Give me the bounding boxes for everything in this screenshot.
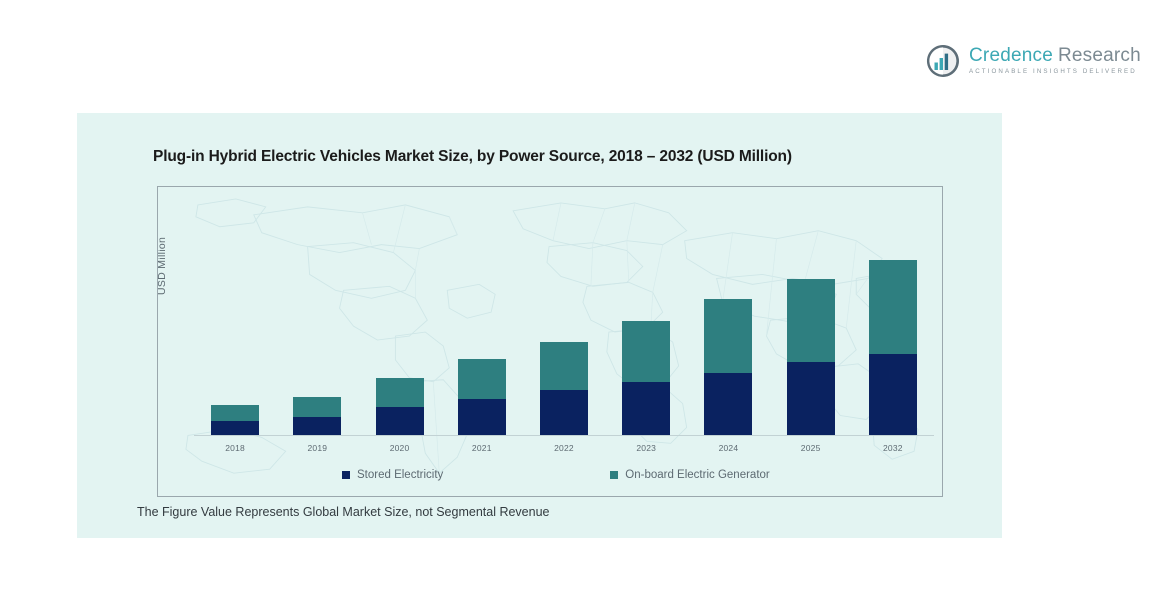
bar-2021[interactable] xyxy=(458,193,506,435)
bar-chart-circle-icon xyxy=(926,44,960,78)
legend-item-on-board-electric-generator[interactable]: On-board Electric Generator xyxy=(610,469,769,481)
chart-title: Plug-in Hybrid Electric Vehicles Market … xyxy=(153,148,792,166)
brand-logo: CredenceResearch Actionable Insights Del… xyxy=(926,44,1141,78)
segment-stored-electricity xyxy=(869,354,917,435)
segment-on-board-electric-generator xyxy=(787,279,835,362)
bar-2023[interactable] xyxy=(622,193,670,435)
page-root: CredenceResearch Actionable Insights Del… xyxy=(0,0,1172,601)
bar-group: 47,390.86 1,10,202.97 xyxy=(194,193,934,435)
legend-swatch-icon xyxy=(342,471,350,479)
segment-on-board-electric-generator xyxy=(458,359,506,399)
y-axis-label: USD Million xyxy=(157,237,168,295)
segment-on-board-electric-generator xyxy=(293,397,341,417)
bar-value-label: 1,10,202.97 xyxy=(862,186,923,187)
segment-on-board-electric-generator xyxy=(540,342,588,390)
segment-stored-electricity xyxy=(293,417,341,435)
segment-stored-electricity xyxy=(458,399,506,435)
chart-legend: Stored Electricity On-board Electric Gen… xyxy=(194,469,934,481)
segment-stored-electricity xyxy=(376,407,424,435)
brand-text: CredenceResearch Actionable Insights Del… xyxy=(969,46,1141,75)
legend-item-stored-electricity[interactable]: Stored Electricity xyxy=(342,469,443,481)
bar-2020[interactable] xyxy=(376,193,424,435)
segment-on-board-electric-generator xyxy=(869,260,917,354)
bar-2024[interactable] xyxy=(704,193,752,435)
legend-label: On-board Electric Generator xyxy=(625,469,769,481)
bar-value-label: 47,390.86 xyxy=(785,186,836,187)
brand-name-secondary: Research xyxy=(1058,45,1141,66)
segment-stored-electricity xyxy=(622,382,670,435)
brand-tagline: Actionable Insights Delivered xyxy=(969,69,1141,75)
x-axis-baseline xyxy=(194,435,934,436)
segment-stored-electricity xyxy=(540,390,588,435)
x-tick-2032: 2032 xyxy=(869,443,917,453)
x-tick-2021: 2021 xyxy=(458,443,506,453)
segment-on-board-electric-generator xyxy=(376,378,424,407)
segment-on-board-electric-generator xyxy=(211,405,259,421)
chart-plot-frame: USD Million xyxy=(157,186,943,497)
x-axis-tick-labels: 2018 2019 2020 2021 2022 2023 2024 2025 … xyxy=(194,443,934,453)
x-tick-2024: 2024 xyxy=(704,443,752,453)
legend-swatch-icon xyxy=(610,471,618,479)
x-tick-2018: 2018 xyxy=(211,443,259,453)
bar-2018[interactable] xyxy=(211,193,259,435)
segment-stored-electricity xyxy=(704,373,752,435)
x-tick-2025: 2025 xyxy=(787,443,835,453)
segment-on-board-electric-generator xyxy=(704,299,752,373)
plot-area: 47,390.86 1,10,202.97 xyxy=(194,193,934,435)
bar-2022[interactable] xyxy=(540,193,588,435)
bar-2025[interactable]: 47,390.86 xyxy=(787,193,835,435)
chart-panel: Plug-in Hybrid Electric Vehicles Market … xyxy=(77,113,1002,538)
x-tick-2022: 2022 xyxy=(540,443,588,453)
bar-2032[interactable]: 1,10,202.97 xyxy=(869,193,917,435)
x-tick-2019: 2019 xyxy=(293,443,341,453)
brand-name-primary: Credence xyxy=(969,45,1053,66)
x-tick-2023: 2023 xyxy=(622,443,670,453)
segment-stored-electricity xyxy=(211,421,259,435)
brand-name: CredenceResearch xyxy=(969,46,1141,65)
x-tick-2020: 2020 xyxy=(376,443,424,453)
chart-footnote: The Figure Value Represents Global Marke… xyxy=(137,505,550,519)
segment-on-board-electric-generator xyxy=(622,321,670,382)
bar-2019[interactable] xyxy=(293,193,341,435)
legend-label: Stored Electricity xyxy=(357,469,443,481)
segment-stored-electricity xyxy=(787,362,835,435)
